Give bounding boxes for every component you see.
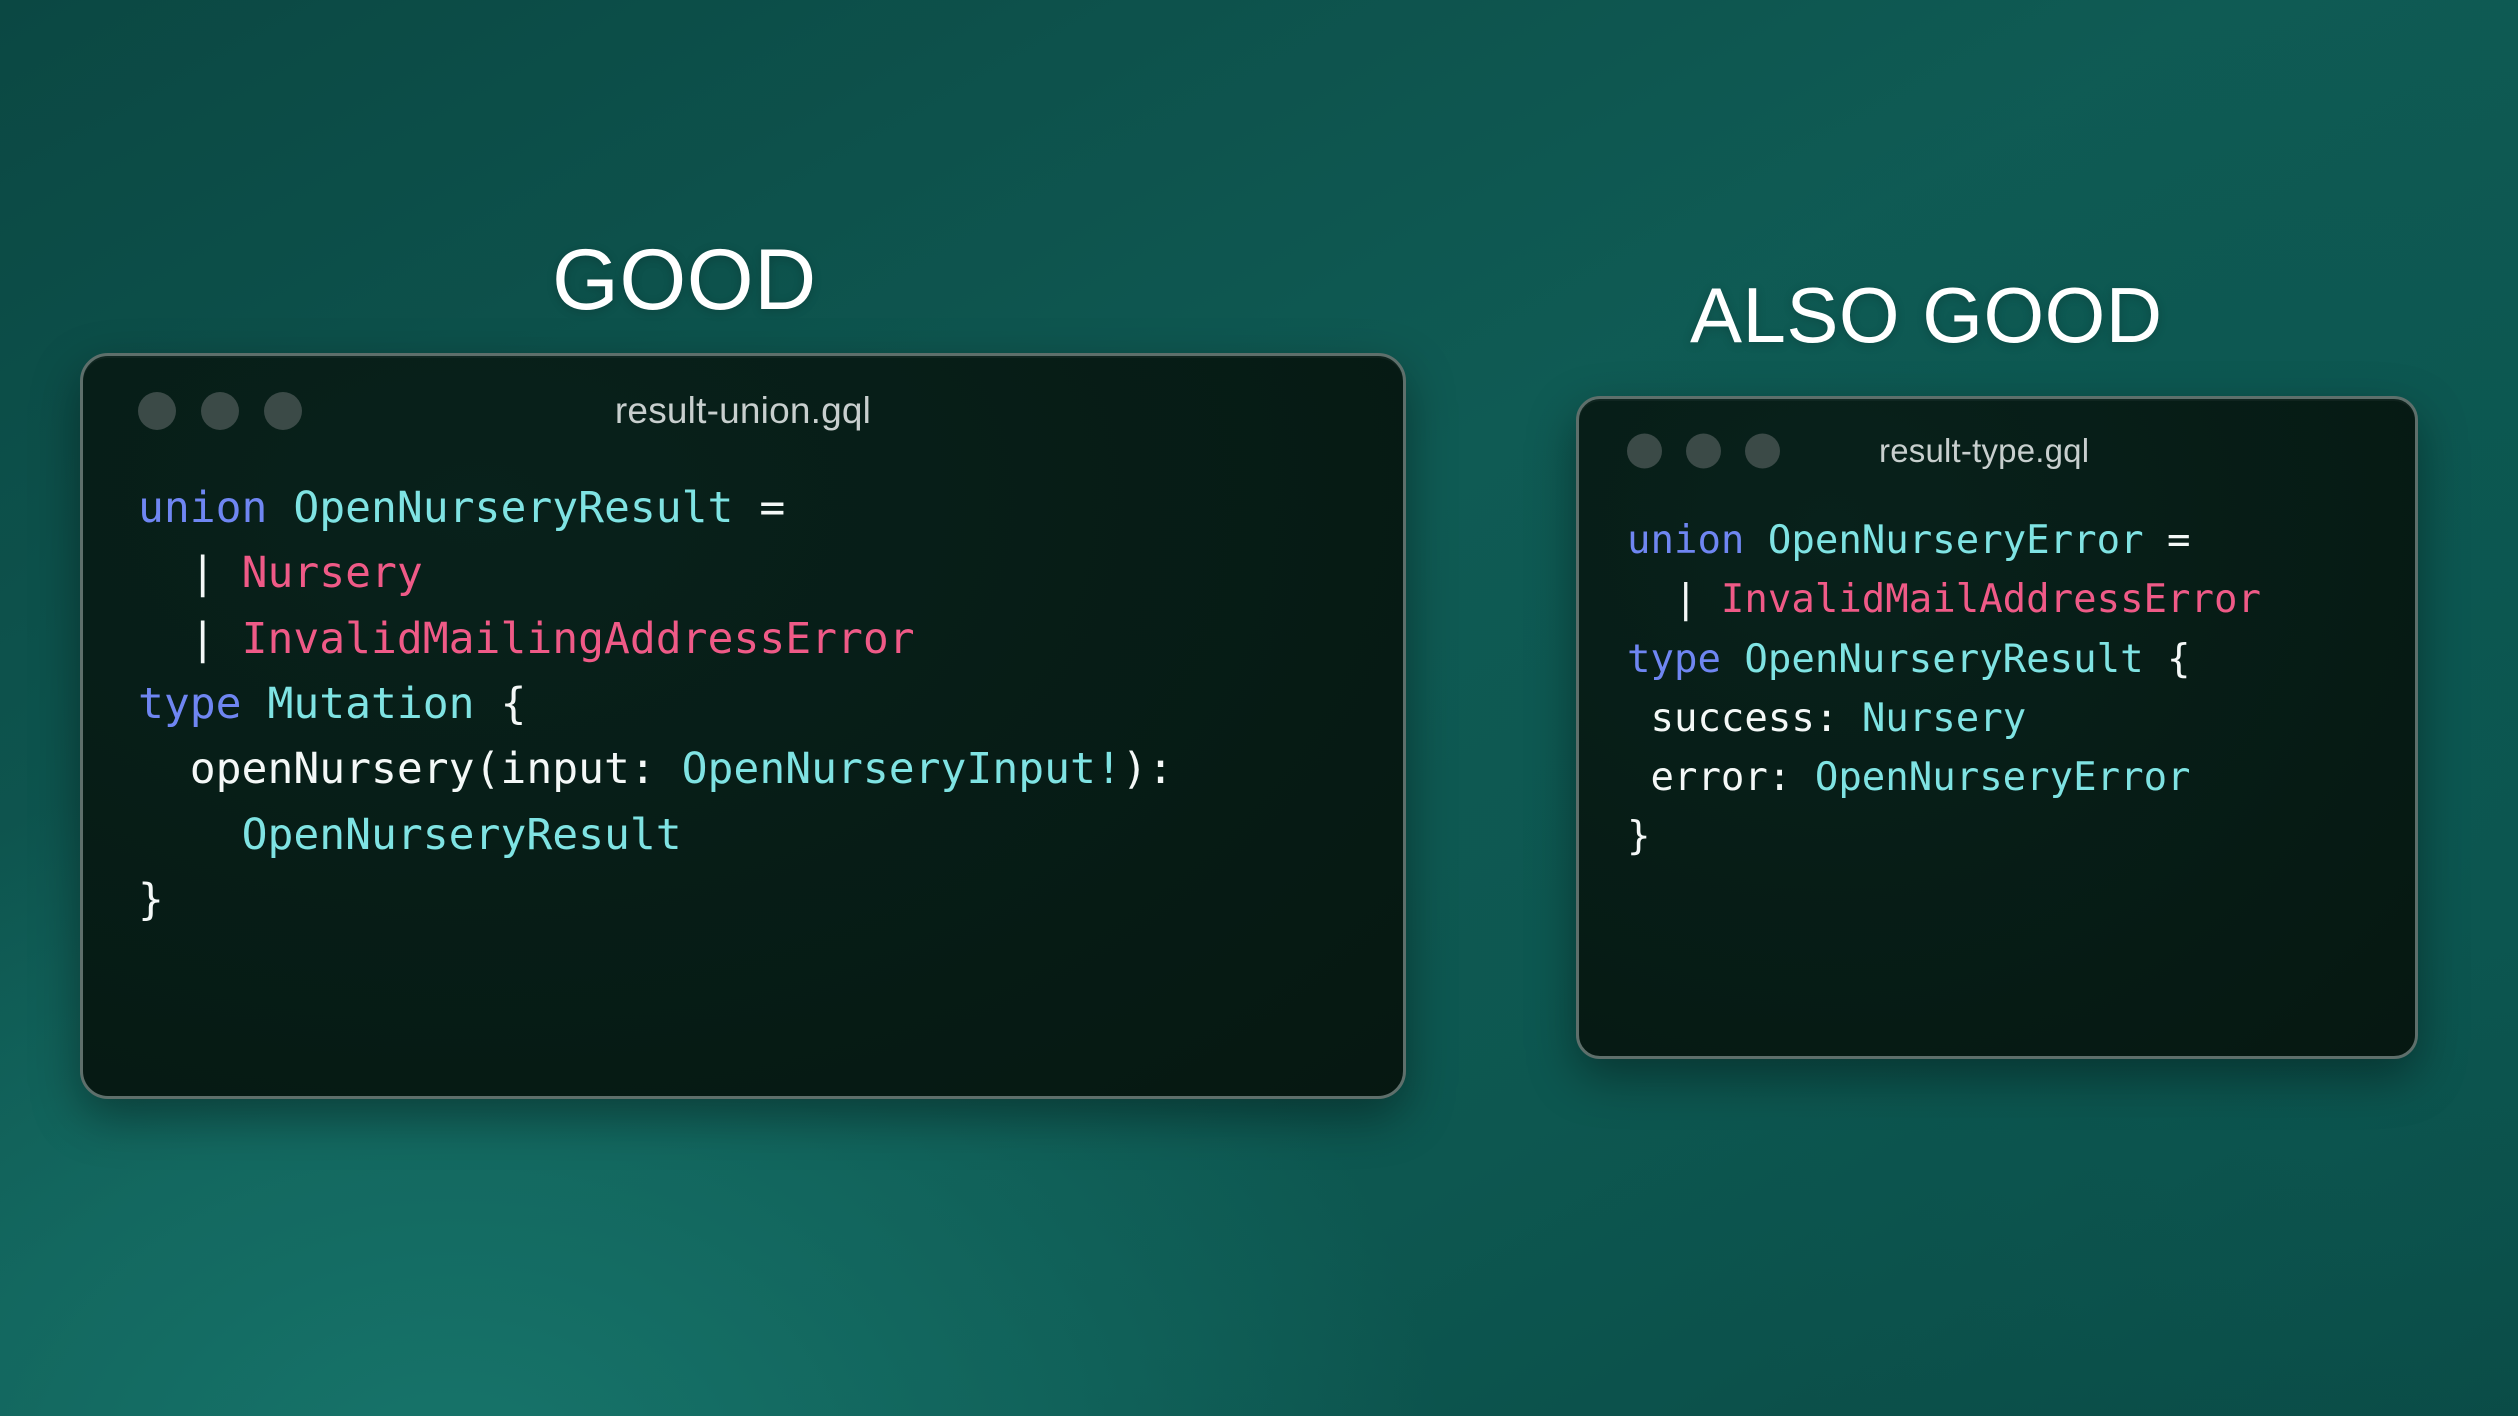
code-token: { (475, 679, 527, 729)
code-token: ): (1122, 744, 1174, 794)
code-token: Mutation (267, 679, 474, 729)
code-token: Nursery (242, 548, 423, 598)
code-card-also-good: result-type.gql union OpenNurseryError =… (1576, 396, 2418, 1059)
window-titlebar: result-union.gql (83, 356, 1403, 466)
code-token: | (138, 548, 242, 598)
heading-good: GOOD (552, 237, 817, 323)
code-token: union (1627, 518, 1768, 563)
code-card-good: result-union.gql union OpenNurseryResult… (80, 353, 1406, 1099)
code-token: } (1627, 814, 1650, 859)
close-icon[interactable] (1627, 434, 1662, 469)
code-token: OpenNurseryResult (293, 483, 733, 533)
code-token: success: (1627, 696, 1862, 741)
heading-also-good: ALSO GOOD (1690, 276, 2163, 354)
code-token: { (2144, 637, 2191, 682)
filename-label: result-type.gql (1879, 432, 2415, 470)
code-block-also-good: union OpenNurseryError = | InvalidMailAd… (1579, 503, 2415, 867)
code-token: Nursery (1862, 696, 2026, 741)
minimize-icon[interactable] (1686, 434, 1721, 469)
code-token (138, 810, 242, 860)
code-token: OpenNurseryInput! (682, 744, 1122, 794)
code-token: = (733, 483, 785, 533)
code-token: OpenNurseryResult (1744, 637, 2143, 682)
code-token: InvalidMailAddressError (1721, 577, 2261, 622)
code-token: OpenNurseryError (1815, 755, 2191, 800)
maximize-icon[interactable] (1745, 434, 1780, 469)
filename-label: result-union.gql (83, 390, 1403, 432)
code-token: type (1627, 637, 1744, 682)
code-token: OpenNurseryResult (242, 810, 682, 860)
code-token: } (138, 875, 164, 925)
code-token: OpenNurseryError (1768, 518, 2144, 563)
code-token: union (138, 483, 293, 533)
code-token: error: (1627, 755, 1815, 800)
slide-canvas: GOOD ALSO GOOD result-union.gql union Op… (0, 0, 2518, 1416)
code-token: openNursery(input: (138, 744, 682, 794)
window-titlebar: result-type.gql (1579, 399, 2415, 503)
code-token: = (2144, 518, 2191, 563)
code-block-good: union OpenNurseryResult = | Nursery | In… (83, 466, 1403, 934)
code-token: type (138, 679, 267, 729)
window-controls[interactable] (1627, 434, 1780, 469)
code-token: | (1627, 577, 1721, 622)
code-token: | (138, 614, 242, 664)
code-token: InvalidMailingAddressError (242, 614, 915, 664)
